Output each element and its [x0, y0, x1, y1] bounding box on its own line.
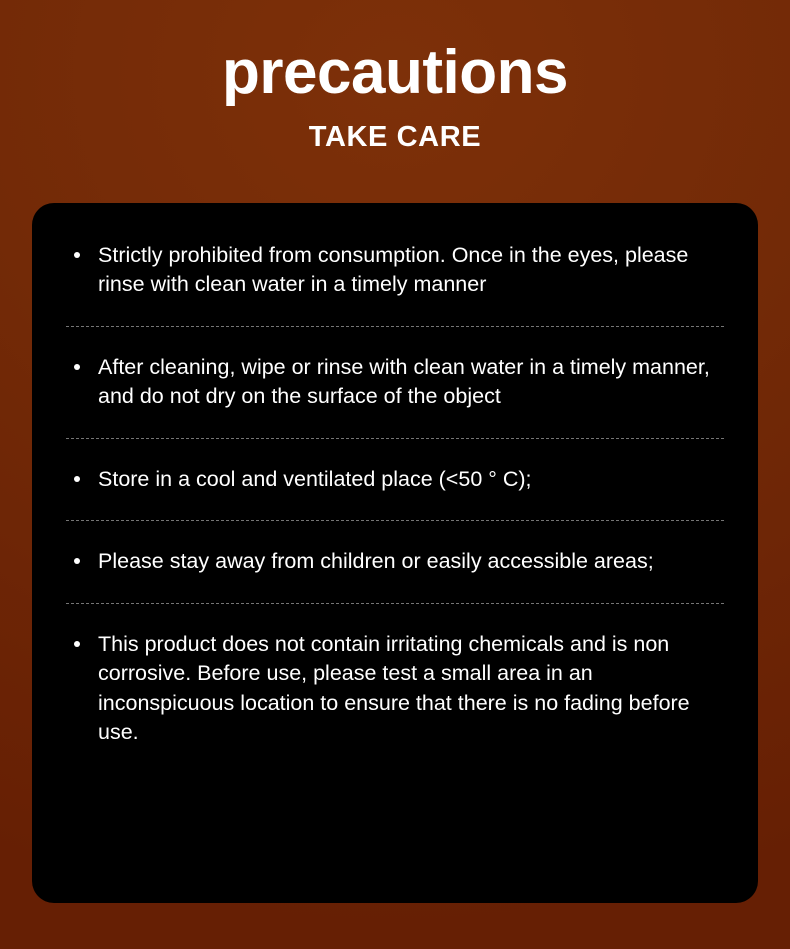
- list-item-text: Strictly prohibited from consumption. On…: [98, 243, 688, 296]
- bullet-icon: [74, 558, 80, 564]
- list-item-text: This product does not contain irritating…: [98, 632, 690, 744]
- list-divider: [66, 603, 724, 604]
- list-divider: [66, 326, 724, 327]
- bullet-icon: [74, 476, 80, 482]
- spacer: [60, 577, 730, 603]
- spacer: [60, 439, 730, 465]
- precautions-card: Strictly prohibited from consumption. On…: [32, 203, 758, 903]
- spacer: [60, 494, 730, 520]
- page-title: precautions: [0, 0, 790, 107]
- list-item-text: Store in a cool and ventilated place (<5…: [98, 467, 531, 491]
- list-divider: [66, 438, 724, 439]
- spacer: [60, 604, 730, 630]
- list-item-text: After cleaning, wipe or rinse with clean…: [98, 355, 710, 408]
- bullet-icon: [74, 364, 80, 370]
- precautions-list: Strictly prohibited from consumption. On…: [60, 241, 730, 748]
- spacer: [60, 412, 730, 438]
- spacer: [60, 300, 730, 326]
- list-item: Strictly prohibited from consumption. On…: [60, 241, 730, 300]
- list-item: Please stay away from children or easily…: [60, 547, 730, 576]
- list-divider: [66, 520, 724, 521]
- list-item: This product does not contain irritating…: [60, 630, 730, 748]
- spacer: [60, 327, 730, 353]
- list-item-text: Please stay away from children or easily…: [98, 549, 654, 573]
- spacer: [60, 521, 730, 547]
- bullet-icon: [74, 641, 80, 647]
- page-subtitle: TAKE CARE: [0, 107, 790, 154]
- list-item: After cleaning, wipe or rinse with clean…: [60, 353, 730, 412]
- precautions-poster: precautions TAKE CARE Strictly prohibite…: [0, 0, 790, 949]
- poster-header: precautions TAKE CARE: [0, 0, 790, 154]
- bullet-icon: [74, 252, 80, 258]
- list-item: Store in a cool and ventilated place (<5…: [60, 465, 730, 494]
